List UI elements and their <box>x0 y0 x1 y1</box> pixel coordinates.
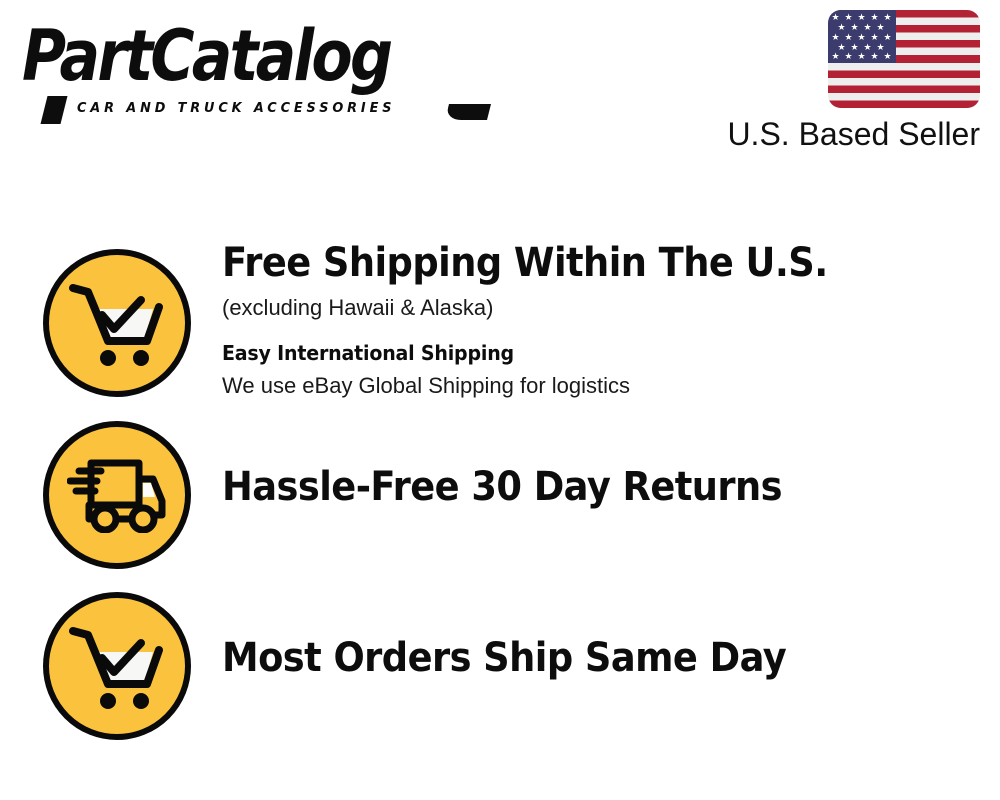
flag-star: ★ <box>870 52 879 61</box>
flag-star: ★ <box>863 23 872 32</box>
feature-headline: Free Shipping Within The U.S. <box>222 230 903 290</box>
logo-descender-accent <box>445 104 491 120</box>
shipping-info-banner: PartCatalog CAR AND TRUCK ACCESSORIES ★ … <box>0 0 1000 800</box>
flag-star: ★ <box>857 13 866 22</box>
flag-star: ★ <box>831 52 840 61</box>
delivery-truck-icon <box>43 421 191 569</box>
us-based-seller-label: U.S. Based Seller <box>727 114 980 154</box>
us-flag-icon: ★ ★ ★ ★ ★ ★ ★ ★ ★ ★ ★ ★ ★ ★ ★ ★ ★ <box>828 10 980 108</box>
flag-star: ★ <box>850 23 859 32</box>
feature-sub-heading: Easy International Shipping <box>222 324 925 368</box>
flag-star: ★ <box>857 52 866 61</box>
flag-star: ★ <box>876 23 885 32</box>
feature-text-block: Free Shipping Within The U.S. (excluding… <box>222 230 962 402</box>
logo-tagline: CAR AND TRUCK ACCESSORIES <box>77 100 395 116</box>
feature-text-block: Most Orders Ship Same Day <box>222 631 962 685</box>
flag-star: ★ <box>870 13 879 22</box>
feature-sub-detail: We use eBay Global Shipping for logistic… <box>222 368 962 402</box>
flag-star: ★ <box>883 13 892 22</box>
flag-star: ★ <box>844 52 853 61</box>
feature-headline: Hassle-Free 30 Day Returns <box>222 460 903 514</box>
logo-stem-accent <box>41 96 68 124</box>
flag-star: ★ <box>883 33 892 42</box>
partcatalog-logo: PartCatalog CAR AND TRUCK ACCESSORIES <box>22 18 492 118</box>
flag-star: ★ <box>831 33 840 42</box>
us-based-seller-block: ★ ★ ★ ★ ★ ★ ★ ★ ★ ★ ★ ★ ★ ★ ★ ★ ★ <box>720 10 990 160</box>
shopping-cart-check-icon <box>43 249 191 397</box>
feature-headline: Most Orders Ship Same Day <box>222 631 903 685</box>
logo-wordmark: PartCatalog <box>22 18 390 94</box>
flag-star: ★ <box>831 13 840 22</box>
flag-star: ★ <box>844 33 853 42</box>
flag-star: ★ <box>857 33 866 42</box>
feature-subline: (excluding Hawaii & Alaska) <box>222 290 962 324</box>
flag-stars: ★ ★ ★ ★ ★ ★ ★ ★ ★ ★ ★ ★ ★ ★ ★ ★ ★ <box>828 10 896 63</box>
feature-list: Free Shipping Within The U.S. (excluding… <box>0 230 1000 770</box>
feature-text-block: Hassle-Free 30 Day Returns <box>222 460 962 514</box>
flag-star: ★ <box>837 23 846 32</box>
flag-star: ★ <box>883 52 892 61</box>
flag-star: ★ <box>870 33 879 42</box>
flag-star: ★ <box>844 13 853 22</box>
shopping-cart-check-icon <box>43 592 191 740</box>
banner-header: PartCatalog CAR AND TRUCK ACCESSORIES ★ … <box>0 0 1000 170</box>
